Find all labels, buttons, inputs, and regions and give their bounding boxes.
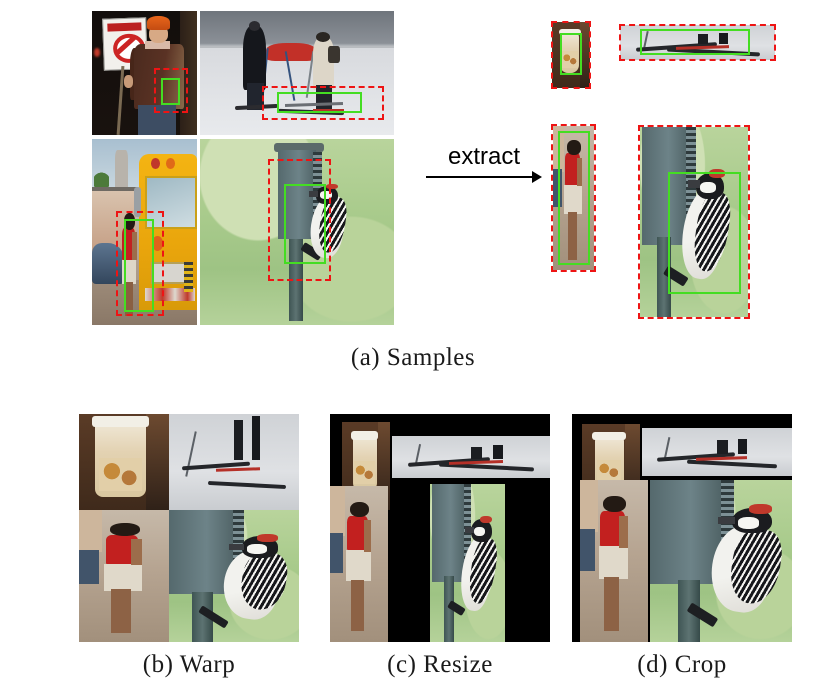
green-solid-object-box [668, 172, 741, 294]
ski-pole [185, 432, 197, 477]
street-light-glow [94, 48, 100, 57]
bird-red-crown [480, 516, 492, 524]
red-sled [266, 43, 316, 60]
right-arrow-head-icon [532, 171, 542, 183]
bird-beak [465, 527, 474, 533]
crop-tile-grid[interactable] [572, 414, 792, 642]
skier-head [249, 21, 261, 31]
warp-tile-skis[interactable] [169, 414, 299, 510]
woman-legs [604, 577, 619, 630]
resize-tile-grid[interactable] [330, 414, 550, 642]
source-image-school-bus-woman[interactable] [92, 139, 197, 325]
green-solid-object-box [560, 33, 582, 75]
cup-graphic [597, 460, 621, 481]
extract-transform: extract [424, 143, 544, 195]
crop-tile-bird[interactable] [650, 480, 792, 642]
woman-hair [110, 523, 141, 536]
skier-bag [328, 46, 340, 63]
woman-arm [619, 516, 627, 548]
woman-skirt [599, 546, 628, 578]
woman-arm [364, 520, 371, 551]
bird-cheek [247, 544, 267, 553]
ski-boot [493, 445, 502, 458]
ski-boot [738, 439, 747, 454]
woman-hair [603, 496, 626, 512]
bus-vent [184, 262, 192, 292]
cup-lid [592, 432, 626, 440]
caption-panel-c: (c) Resize [330, 651, 550, 679]
background-wall [580, 480, 598, 532]
bus-light [151, 158, 160, 169]
ski-pole [415, 444, 421, 464]
caption-panel-d: (d) Crop [572, 651, 792, 679]
source-image-snow-skiers[interactable] [200, 11, 394, 135]
figure-root: extract [0, 0, 825, 688]
background-car [330, 533, 343, 574]
warp-tile-grid[interactable] [79, 414, 299, 642]
green-solid-object-box [640, 29, 750, 55]
resize-tile-skis[interactable] [392, 436, 550, 478]
green-solid-object-box [124, 219, 154, 312]
ski-red-stripe [216, 467, 260, 472]
right-arrow-icon [426, 176, 534, 178]
background-wall [330, 486, 345, 536]
background-car [79, 550, 99, 584]
green-solid-object-box [277, 92, 362, 113]
woman-skirt [104, 564, 142, 590]
bird-cheek [738, 517, 759, 528]
ski-red-stripe [696, 456, 747, 461]
background-car [580, 529, 595, 571]
sign-pole [117, 66, 125, 135]
water-tower [115, 150, 128, 191]
source-image-bird-feeder-woodpecker[interactable] [200, 139, 394, 325]
extract-label: extract [424, 143, 544, 171]
warp-tile-bird[interactable] [169, 510, 299, 642]
bird-beak [718, 517, 735, 523]
green-solid-object-box [161, 78, 180, 105]
skier-person-left [243, 26, 266, 90]
warp-tile-cup[interactable] [79, 414, 169, 510]
warp-tile-person[interactable] [79, 510, 169, 642]
man-hand [124, 75, 133, 87]
ski-boot [234, 420, 243, 460]
woman-skirt [346, 550, 370, 581]
woman-hair [350, 502, 370, 518]
bird-beak [229, 544, 245, 549]
woman-legs [111, 589, 131, 633]
cup-lid [351, 431, 379, 440]
background-wall [79, 510, 102, 552]
cup-graphic [99, 458, 142, 491]
green-solid-object-box [558, 131, 590, 265]
green-solid-object-box [284, 184, 326, 264]
ski-boot [717, 440, 728, 453]
ski-boot [252, 416, 260, 460]
caption-panel-b: (b) Warp [79, 651, 299, 679]
man-beanie [147, 16, 170, 30]
crop-tile-person[interactable] [580, 480, 648, 642]
feeder-body [432, 484, 467, 582]
woman-legs [351, 580, 364, 631]
ski [208, 481, 286, 489]
bird-red-crown [749, 504, 772, 514]
woman-arm [131, 539, 142, 565]
resize-tile-person[interactable] [330, 486, 388, 642]
source-image-street-sign-man[interactable] [92, 11, 197, 135]
bus-light [166, 158, 175, 169]
background-strip [146, 414, 169, 510]
cup-graphic [354, 461, 374, 484]
caption-panel-a: (a) Samples [293, 344, 533, 372]
sign-header-text [107, 23, 141, 32]
ski-boot [471, 447, 482, 459]
bird-cheek [474, 527, 485, 536]
resize-tile-bird[interactable] [430, 484, 505, 642]
bird-red-crown [257, 534, 278, 542]
crop-tile-skis[interactable] [642, 428, 792, 476]
skier-head [316, 32, 330, 42]
cup-lid [92, 416, 150, 428]
